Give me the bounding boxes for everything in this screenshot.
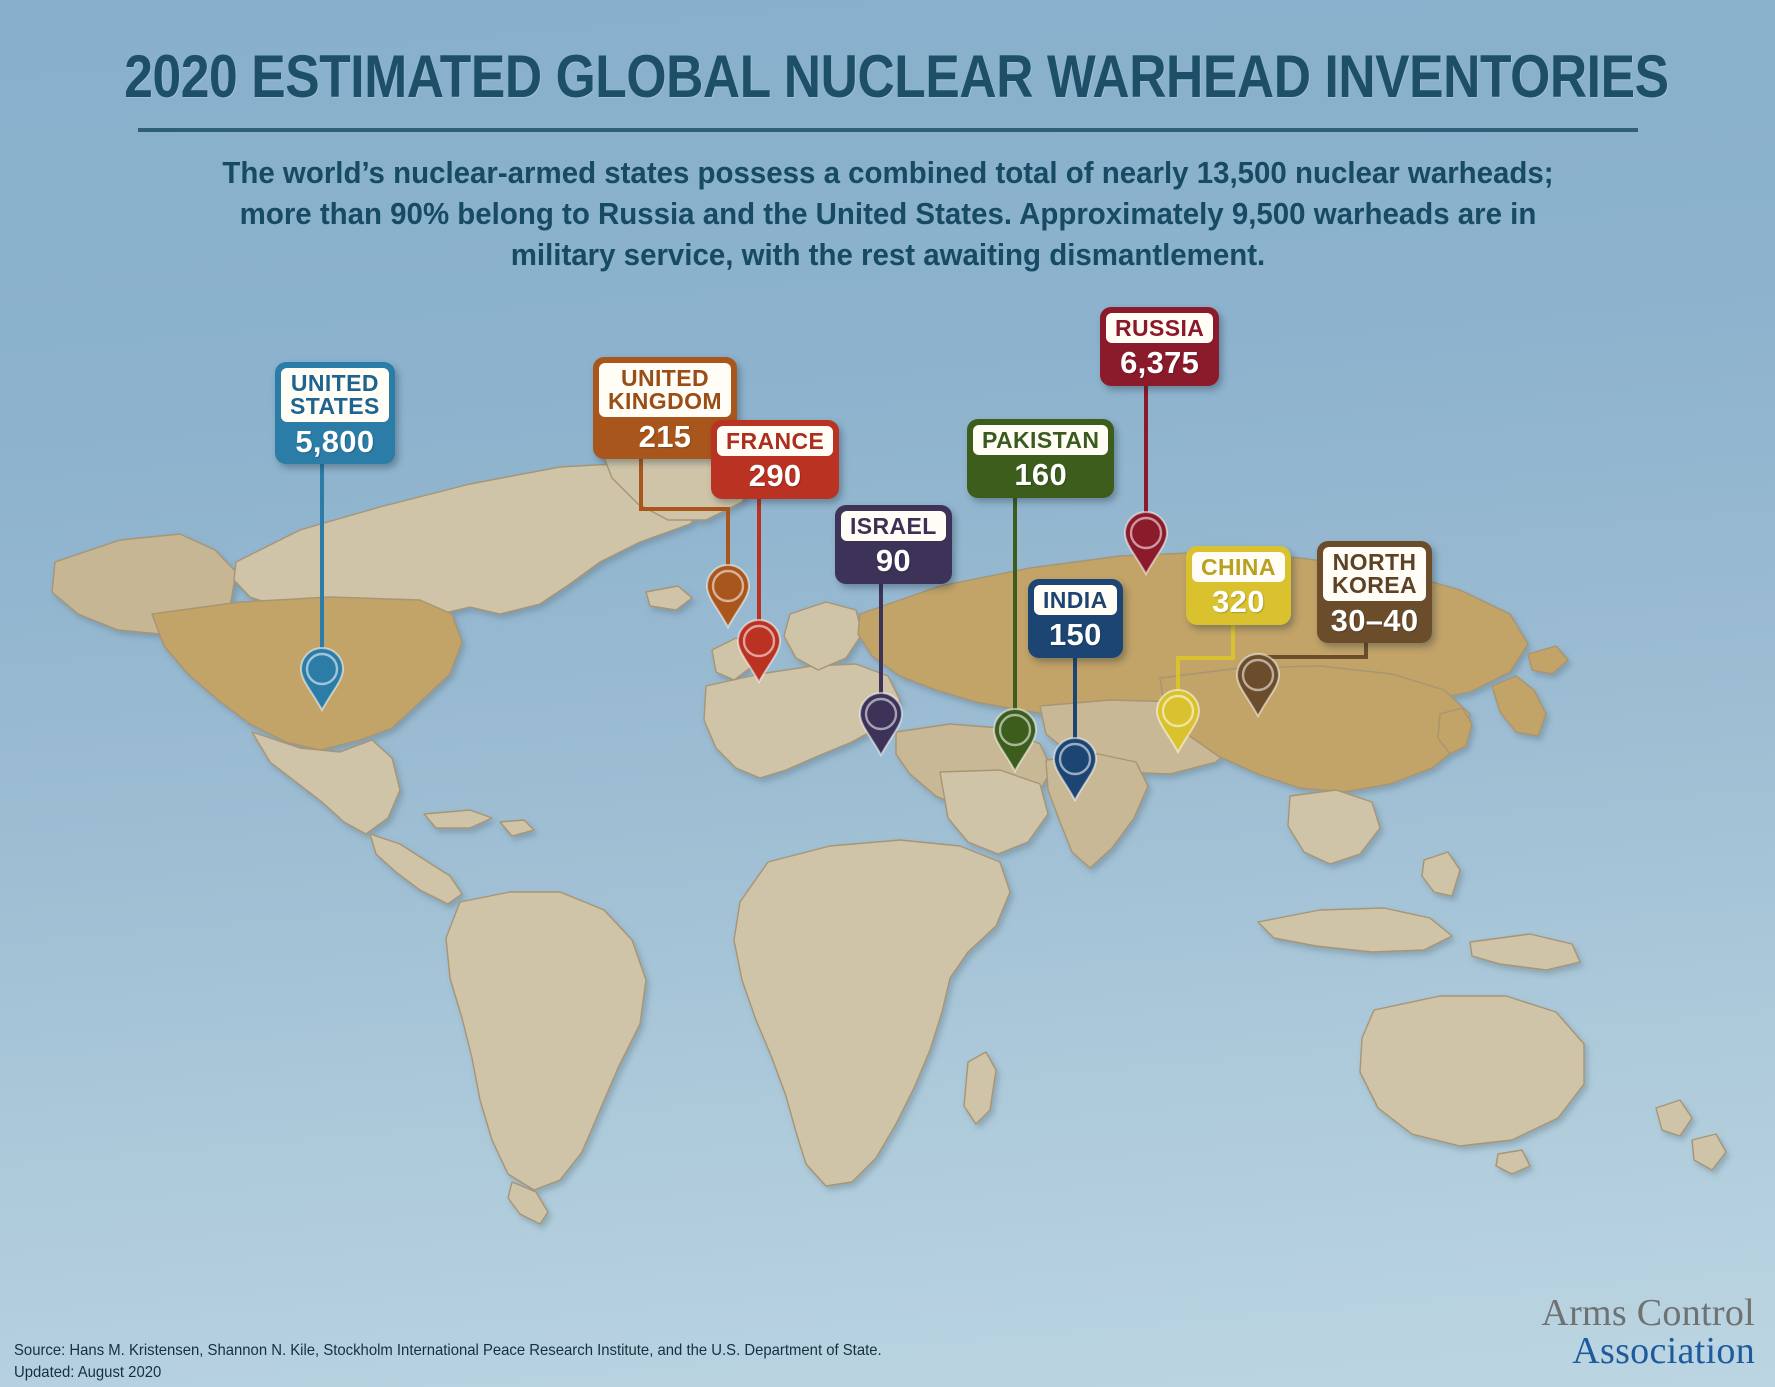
map-pin-israel[interactable] — [858, 691, 904, 757]
marker-country-name-china: CHINA — [1192, 552, 1285, 582]
marker-country-name-line2-united-kingdom: KINGDOM — [608, 390, 722, 413]
marker-sign-russia[interactable]: RUSSIA6,375 — [1100, 307, 1219, 386]
land-newzealand-south — [1692, 1134, 1726, 1170]
land-south-america — [446, 892, 646, 1190]
title-divider — [138, 128, 1638, 132]
marker-country-name-russia: RUSSIA — [1106, 313, 1213, 343]
land-madagascar — [964, 1052, 996, 1124]
marker-country-name-israel: ISRAEL — [841, 511, 946, 541]
marker-country-name-france: FRANCE — [717, 426, 833, 456]
marker-sign-pakistan[interactable]: PAKISTAN160 — [967, 419, 1114, 498]
marker-warhead-count-china: 320 — [1192, 582, 1285, 620]
land-philippines — [1422, 852, 1460, 896]
land-south-america-tip — [508, 1182, 548, 1224]
land-newguinea — [1470, 934, 1580, 970]
marker-stem-pakistan — [1013, 477, 1017, 735]
land-southeast-asia — [1288, 790, 1380, 864]
world-map — [0, 262, 1775, 1272]
land-central-america — [370, 834, 462, 904]
marker-sign-india[interactable]: INDIA150 — [1028, 579, 1123, 658]
marker-sign-united-states[interactable]: UNITEDSTATES5,800 — [275, 362, 395, 464]
logo-line-association: Association — [1541, 1333, 1755, 1369]
marker-warhead-count-united-states: 5,800 — [281, 422, 389, 460]
marker-warhead-count-france: 290 — [717, 456, 833, 494]
land-newzealand — [1656, 1100, 1692, 1136]
page-title: 2020 ESTIMATED GLOBAL NUCLEAR WARHEAD IN… — [124, 0, 1651, 111]
source-line-1: Source: Hans M. Kristensen, Shannon N. K… — [14, 1340, 882, 1363]
logo-line-arms-control: Arms Control — [1541, 1295, 1755, 1331]
source-line-2: Updated: August 2020 — [14, 1362, 882, 1385]
marker-country-name-united-states: UNITEDSTATES — [281, 368, 389, 422]
land-tasmania — [1496, 1150, 1530, 1174]
land-iceland — [646, 586, 692, 610]
marker-country-name-line2-north-korea: KOREA — [1332, 574, 1417, 597]
marker-warhead-count-russia: 6,375 — [1106, 343, 1213, 381]
map-pin-russia[interactable] — [1123, 510, 1169, 576]
land-caribbean — [424, 810, 492, 828]
marker-sign-china[interactable]: CHINA320 — [1186, 546, 1291, 625]
marker-country-name-united-kingdom: UNITEDKINGDOM — [599, 363, 731, 417]
land-africa — [734, 840, 1010, 1186]
marker-sign-france[interactable]: FRANCE290 — [711, 420, 839, 499]
marker-warhead-count-north-korea: 30–40 — [1323, 601, 1426, 639]
marker-elbow-united-kingdom — [639, 507, 730, 511]
marker-sign-north-korea[interactable]: NORTHKOREA30–40 — [1317, 541, 1432, 643]
marker-country-name-north-korea: NORTHKOREA — [1323, 547, 1426, 601]
marker-sign-israel[interactable]: ISRAEL90 — [835, 505, 952, 584]
land-australia — [1360, 996, 1584, 1146]
map-pin-united-states[interactable] — [299, 646, 345, 712]
land-japan — [1492, 676, 1546, 736]
land-indonesia — [1258, 908, 1452, 952]
arms-control-association-logo: Arms Control Association — [1541, 1295, 1755, 1369]
map-pin-france[interactable] — [736, 618, 782, 684]
world-map-svg — [0, 262, 1775, 1272]
marker-elbow-china — [1176, 656, 1235, 660]
marker-country-name-india: INDIA — [1034, 585, 1117, 615]
map-pin-india[interactable] — [1052, 736, 1098, 802]
marker-country-name-line2-united-states: STATES — [290, 395, 380, 418]
source-note: Source: Hans M. Kristensen, Shannon N. K… — [14, 1340, 882, 1385]
header: 2020 ESTIMATED GLOBAL NUCLEAR WARHEAD IN… — [0, 0, 1775, 276]
page-subtitle: The world’s nuclear-armed states possess… — [204, 152, 1572, 276]
land-scandinavia — [784, 602, 862, 670]
map-pin-north-korea[interactable] — [1235, 652, 1281, 718]
land-caribbean-2 — [500, 820, 534, 836]
marker-warhead-count-pakistan: 160 — [973, 455, 1108, 493]
land-japan-north — [1528, 646, 1568, 674]
map-pin-china[interactable] — [1155, 688, 1201, 754]
land-china — [1160, 666, 1470, 792]
land-arabia — [940, 770, 1048, 854]
marker-warhead-count-israel: 90 — [841, 541, 946, 579]
map-pin-pakistan[interactable] — [992, 707, 1038, 773]
marker-country-name-pakistan: PAKISTAN — [973, 425, 1108, 455]
marker-warhead-count-india: 150 — [1034, 615, 1117, 653]
